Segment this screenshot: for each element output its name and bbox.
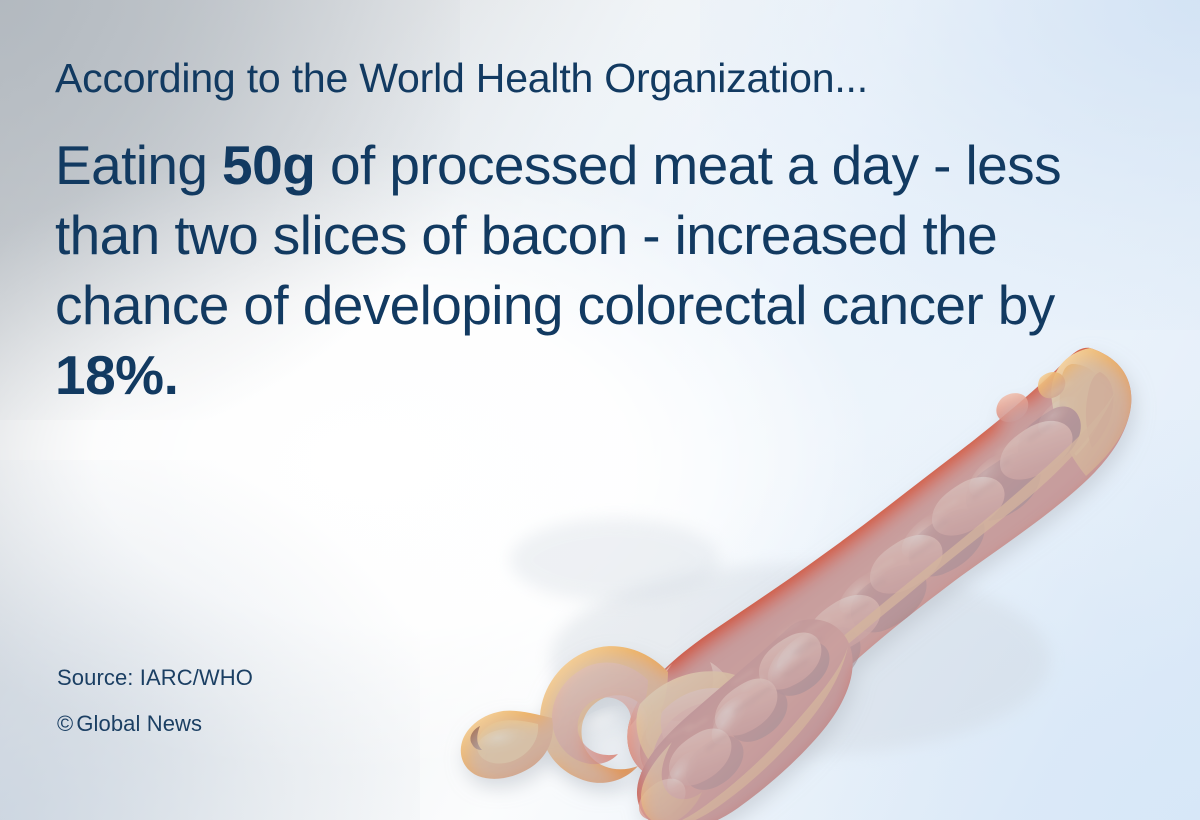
- stat-amount: 50g: [222, 134, 315, 196]
- source-line: Source: IARC/WHO: [57, 666, 253, 690]
- infographic-canvas: According to the World Health Organizati…: [0, 0, 1200, 820]
- stat-increase: 18%.: [55, 344, 178, 406]
- background-shade-bottom-left: [0, 460, 420, 820]
- headline-part-1: Eating: [55, 134, 222, 196]
- kicker-line: According to the World Health Organizati…: [55, 52, 1155, 104]
- text-block: According to the World Health Organizati…: [55, 52, 1155, 410]
- copyright-owner: Global News: [76, 711, 202, 736]
- credits-block: Source: IARC/WHO ©Global News: [57, 666, 253, 736]
- copyright-line: ©Global News: [57, 712, 253, 736]
- headline: Eating 50g of processed meat a day - les…: [55, 130, 1145, 410]
- copyright-icon: ©: [57, 712, 73, 736]
